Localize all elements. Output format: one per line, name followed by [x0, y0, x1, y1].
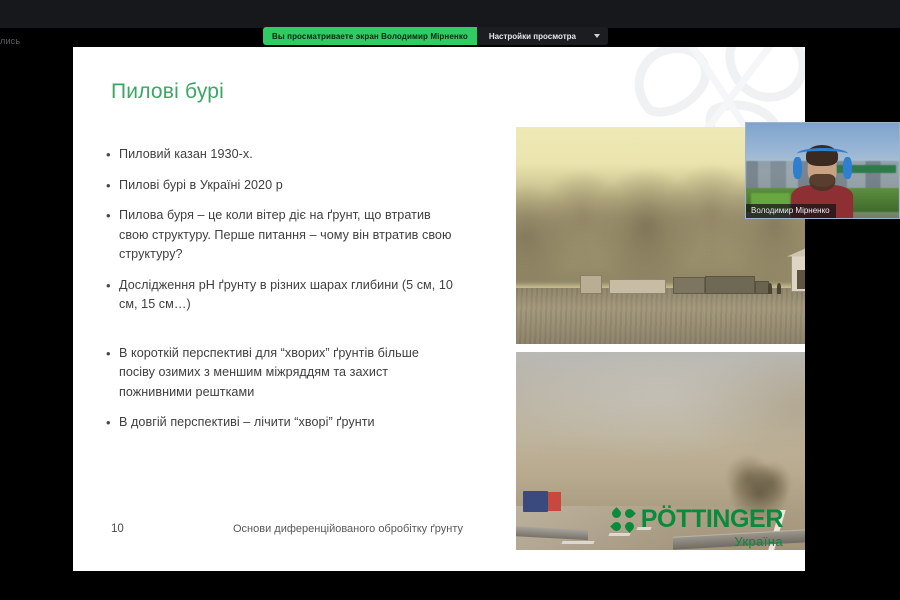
- photo-building: [705, 276, 755, 294]
- participant-video-tile[interactable]: Володимир Мірненко: [745, 122, 900, 219]
- list-item: • Пилова буря – це коли вітер діє на ґру…: [103, 206, 453, 265]
- photo-building: [673, 277, 705, 294]
- window-corner-text: лись: [0, 34, 48, 48]
- list-item-text: Пиловий казан 1930-х.: [119, 145, 253, 165]
- list-item-text: Дослідження pH ґрунту в різних шарах гли…: [119, 276, 453, 315]
- photo-truck: [523, 491, 548, 513]
- slide-number: 10: [111, 523, 124, 535]
- bullet-marker-icon: •: [103, 145, 119, 165]
- participant-name-label: Володимир Мірненко: [746, 204, 836, 218]
- list-item: • В довгій перспективі – лічити “хворі” …: [103, 413, 453, 433]
- headphones-icon: [797, 148, 848, 160]
- list-item-text: Пилова буря – це коли вітер діє на ґрунт…: [119, 206, 453, 265]
- view-options-label: Настройки просмотра: [489, 32, 576, 41]
- bullet-marker-icon: •: [103, 276, 119, 315]
- photo-building: [580, 275, 601, 295]
- list-item: • Пиловий казан 1930-х.: [103, 145, 453, 165]
- list-item: • В короткій перспективі для “хворих” ґр…: [103, 344, 453, 403]
- list-item-text: В довгій перспективі – лічити “хворі” ґр…: [119, 413, 375, 433]
- zoom-screenshare-window: лись Вы просматриваете экран Володимир М…: [0, 0, 900, 600]
- video-person-beard: [810, 174, 835, 192]
- photo-ground: [516, 288, 805, 344]
- photo-building: [609, 279, 666, 294]
- headphone-cup-left: [793, 157, 802, 179]
- presentation-slide: Пилові бурі • Пиловий казан 1930-х. • Пи…: [73, 47, 805, 571]
- photo-person: [768, 283, 772, 294]
- photo-lane-marking: [562, 541, 595, 544]
- bullet-marker-icon: •: [103, 413, 119, 433]
- view-options-dropdown[interactable]: Настройки просмотра: [477, 27, 608, 45]
- slide-footer-title: Основи диференційованого обробітку ґрунт…: [233, 523, 463, 535]
- photo-person: [777, 283, 781, 294]
- list-item-text: Пилові бурі в Україні 2020 р: [119, 176, 283, 196]
- screenshare-notice-label: Вы просматриваете экран Володимир Мірнен…: [263, 27, 477, 45]
- chevron-down-icon: [594, 34, 600, 38]
- list-item: • Пилові бурі в Україні 2020 р: [103, 176, 453, 196]
- slide-bullet-list: • Пиловий казан 1930-х. • Пилові бурі в …: [103, 145, 453, 444]
- bullet-marker-icon: •: [103, 206, 119, 265]
- clover-logo-icon: [612, 509, 634, 531]
- list-item: • Дослідження pH ґрунту в різних шарах г…: [103, 276, 453, 315]
- headphone-cup-right: [843, 157, 852, 179]
- photo-farmhouse: [791, 255, 805, 292]
- pottinger-logo: PÖTTINGER Україна: [612, 507, 783, 549]
- bullet-marker-icon: •: [103, 176, 119, 196]
- bullet-marker-icon: •: [103, 344, 119, 403]
- list-item-text: В короткій перспективі для “хворих” ґрун…: [119, 344, 453, 403]
- logo-subtitle: Україна: [612, 534, 783, 549]
- logo-wordmark: PÖTTINGER: [641, 507, 783, 532]
- zoom-top-bar: [0, 0, 900, 28]
- screenshare-status-bar: Вы просматриваете экран Володимир Мірнен…: [263, 27, 608, 45]
- slide-title: Пилові бурі: [111, 80, 224, 104]
